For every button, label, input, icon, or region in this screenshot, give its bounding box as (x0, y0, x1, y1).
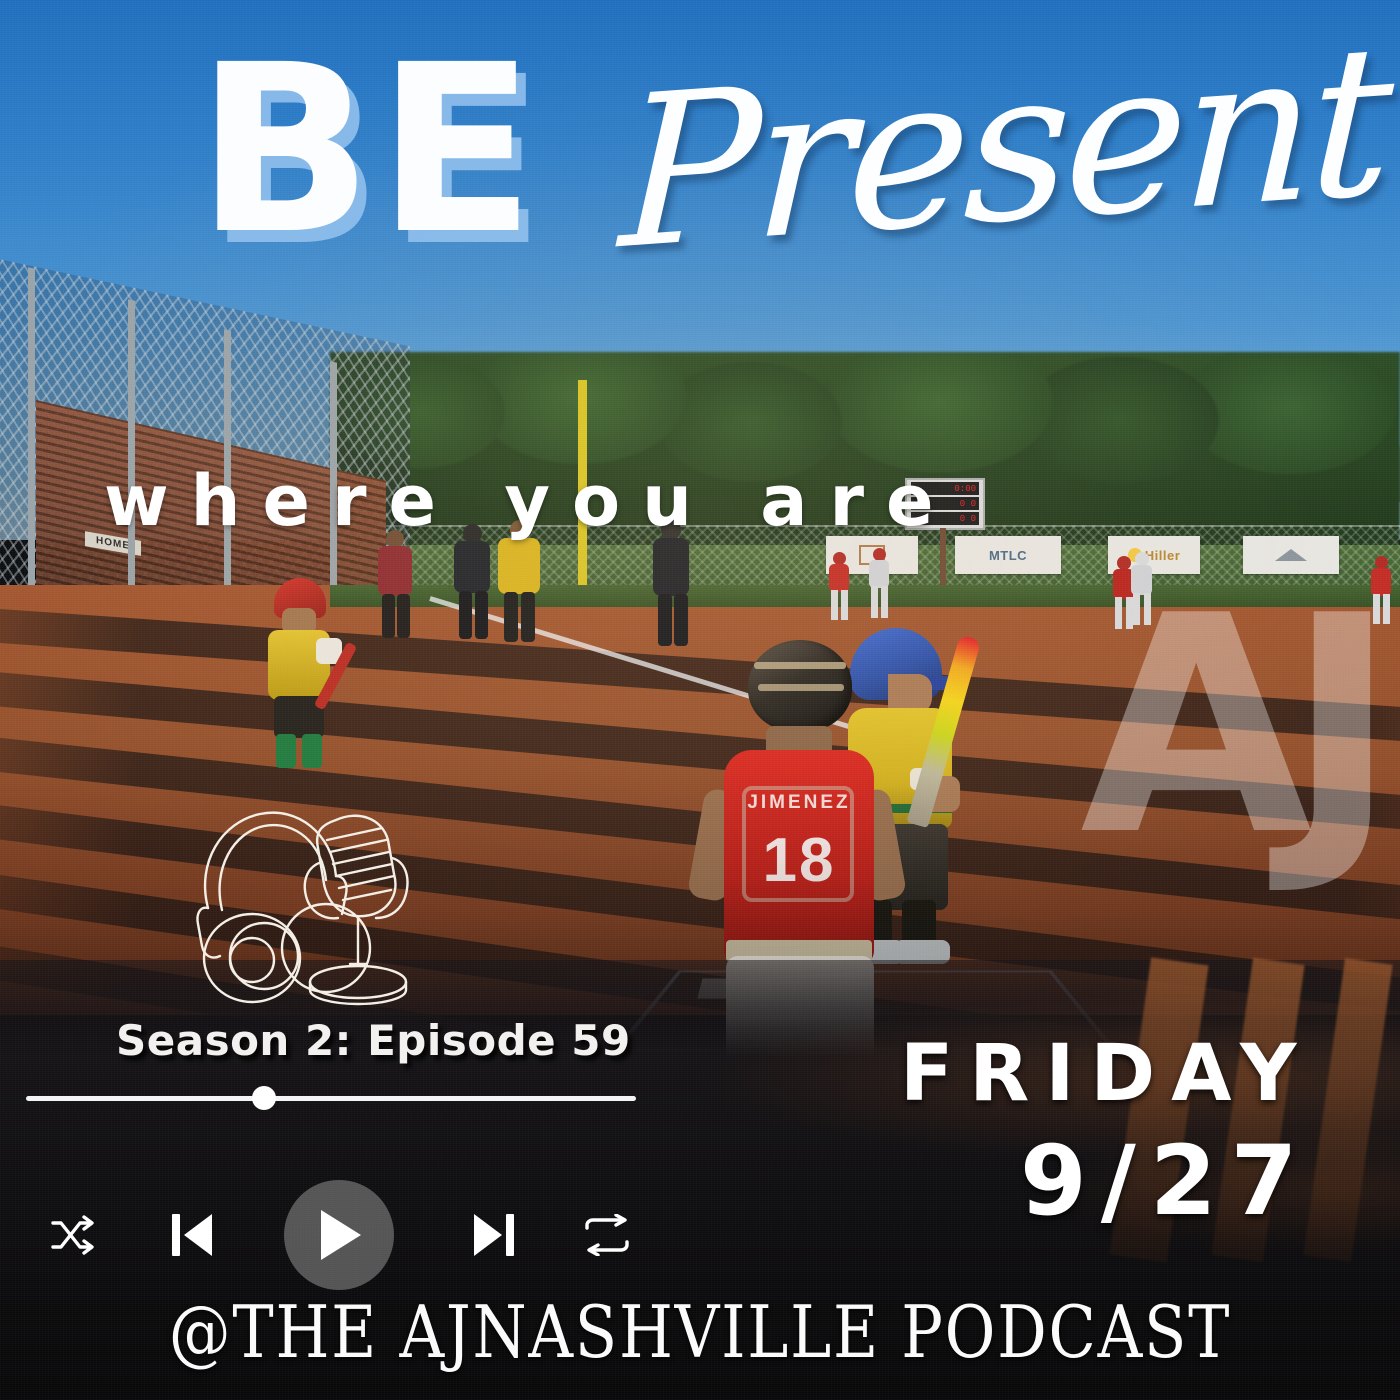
repeat-icon[interactable] (578, 1208, 636, 1262)
player-controls (26, 1180, 646, 1270)
progress-bar[interactable] (26, 1093, 636, 1103)
season-episode-label: Season 2: Episode 59 (116, 1016, 631, 1065)
title-be: BE (196, 34, 539, 266)
date-label: 9/27 (1020, 1133, 1311, 1229)
day-label: FRIDAY (900, 1034, 1313, 1116)
aj-watermark: AJ (1080, 604, 1372, 850)
title-present: Present (617, 17, 1390, 280)
next-track-icon[interactable] (466, 1204, 522, 1266)
progress-knob[interactable] (252, 1086, 276, 1110)
headphones-and-microphone-icon (186, 796, 416, 1016)
podcast-handle: @THE AJNASHVILLE PODCAST (98, 1296, 1302, 1368)
progress-track[interactable] (26, 1096, 636, 1101)
overlay: BE Present where you are AJ (0, 0, 1400, 1400)
previous-track-icon[interactable] (164, 1204, 220, 1266)
podcast-cover-artwork: MTLC Hiller 0:00 0 0 0 0 HOME (0, 0, 1400, 1400)
subtitle-where-you-are: where you are (104, 466, 1304, 536)
play-button[interactable] (284, 1180, 394, 1290)
play-icon (313, 1206, 365, 1264)
shuffle-icon[interactable] (48, 1208, 102, 1262)
